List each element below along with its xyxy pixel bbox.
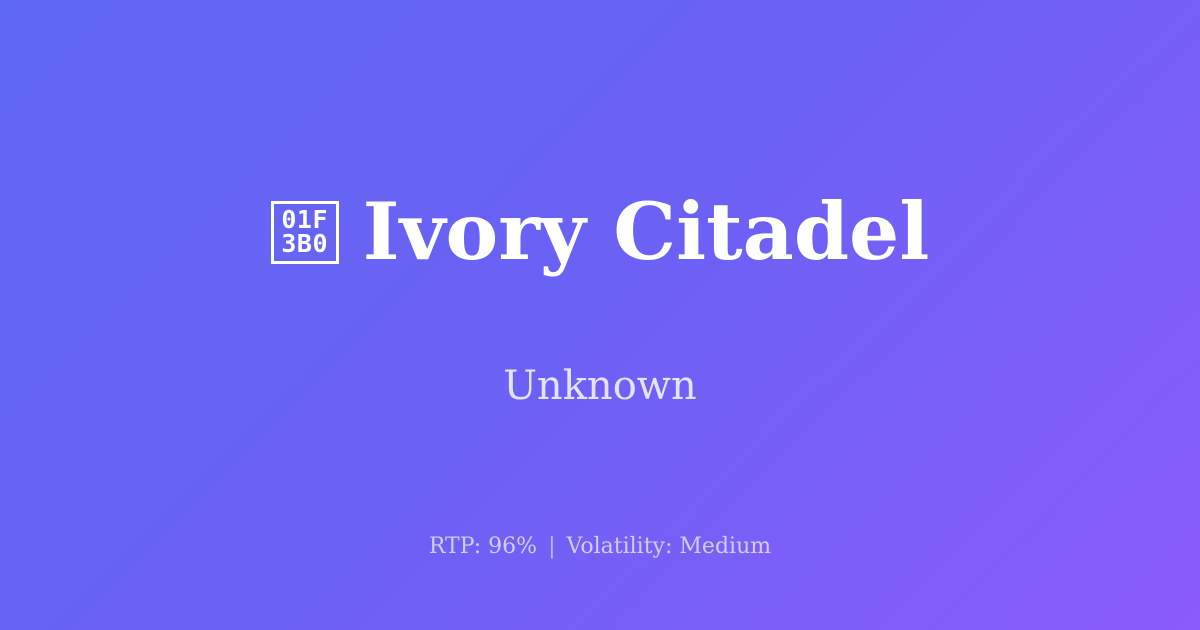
subtitle: Unknown [503, 364, 697, 408]
rtp-value: 96% [488, 534, 537, 559]
meta-separator: | [544, 534, 559, 559]
hero-block: 01F 3B0 Ivory Citadel Unknown [0, 138, 1200, 408]
slot-machine-icon: 01F 3B0 [271, 201, 339, 264]
volatility-value: Medium [679, 534, 771, 559]
meta-line: RTP: 96% | Volatility: Medium [0, 534, 1200, 560]
og-preview-card: 01F 3B0 Ivory Citadel Unknown RTP: 96% |… [0, 0, 1200, 630]
rtp-label: RTP: [429, 534, 481, 559]
volatility-label: Volatility: [567, 534, 673, 559]
title-row: 01F 3B0 Ivory Citadel [271, 138, 930, 326]
page-title: Ivory Citadel [363, 191, 930, 273]
slot-machine-icon-codepoint-bottom: 3B0 [281, 232, 328, 257]
